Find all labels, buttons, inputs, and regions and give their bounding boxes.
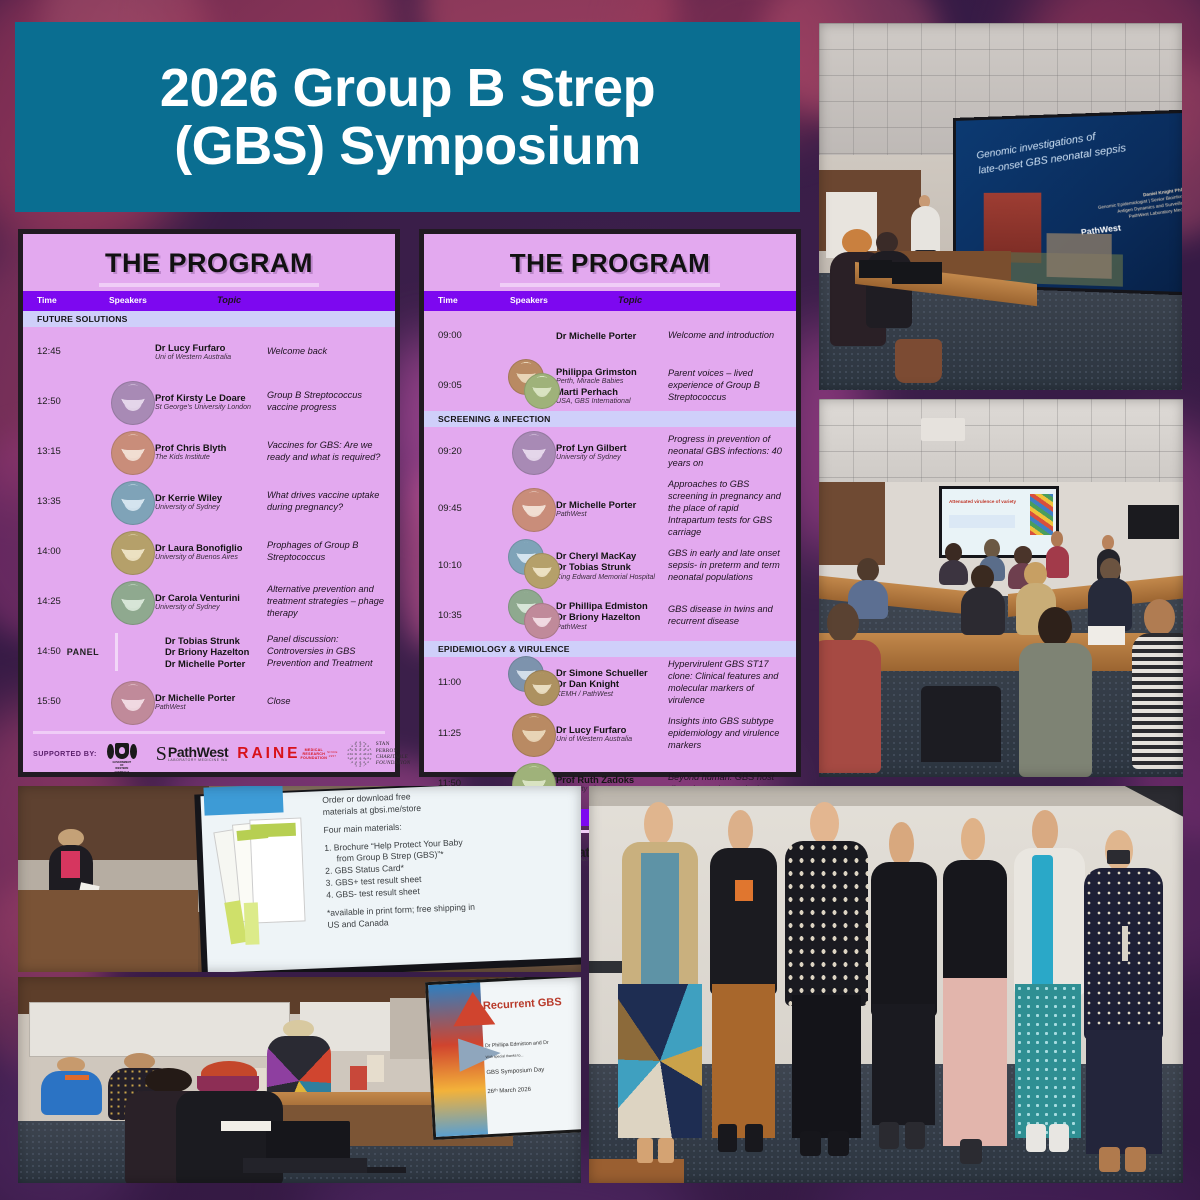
speaker-affiliation: Uni of Western Australia [155, 353, 263, 362]
row-time: 12:45 [23, 346, 109, 357]
program-left-rows: FUTURE SOLUTIONS12:45Dr Lucy FurfaroUni … [23, 311, 395, 727]
row-time-value: 14:25 [37, 596, 61, 607]
avatar-group [510, 711, 556, 757]
speaker-avatar [111, 431, 155, 475]
supporters-divider [33, 731, 385, 734]
avatar-group [510, 486, 556, 532]
row-topic: Prophages of Group B Streptococcus [267, 540, 395, 564]
speaker-avatar [111, 681, 155, 725]
stan-perron-foundation-logo: STAN PERRONCHARITABLEFOUNDATION [347, 741, 412, 767]
program-row: 11:25Dr Lucy FurfaroUni of Western Austr… [424, 709, 796, 759]
row-time-value: 09:20 [438, 446, 462, 457]
speaker-name: Prof Kirsty Le Doare [155, 392, 263, 403]
row-time-value: 12:50 [37, 396, 61, 407]
row-speakers: Dr Simone SchuellerDr Dan KnightKEMH / P… [556, 667, 668, 698]
speaker-name: Dr Cheryl MacKay [556, 550, 664, 561]
supporters-left: SUPPORTED BY: GOVERNMENT OFWESTERN AUSTR… [23, 727, 395, 777]
avatar-group [109, 329, 155, 375]
pathwest-logo: S PathWest LABORATORY MEDICINE WA [156, 744, 228, 764]
speaker-name: Dr Kerrie Wiley [155, 492, 263, 503]
program-left-header: THE PROGRAM [23, 234, 395, 291]
column-header-topic: Topic [217, 295, 395, 307]
speaker-name: Dr Lucy Furfaro [556, 724, 664, 735]
row-time-value: 10:10 [438, 560, 462, 571]
row-speakers: Prof Lyn GilbertUniversity of Sydney [556, 442, 668, 462]
speaker-affiliation: University of Buenos Aires [155, 553, 263, 562]
speaker-name: Prof Chris Blyth [155, 442, 263, 453]
row-time-value: 09:05 [438, 380, 462, 391]
row-time-value: 09:45 [438, 503, 462, 514]
speaker-name: Dr Dan Knight [556, 678, 664, 689]
row-time: 13:15 [23, 446, 109, 457]
row-speakers: Dr Laura BonofiglioUniversity of Buenos … [155, 542, 267, 562]
speaker-affiliation: University of Sydney [556, 453, 664, 462]
photo-slide-materials: Order or download free materials at gbsi… [18, 786, 581, 972]
row-speakers: Dr Michelle Porter [556, 330, 668, 341]
row-time: 11:25 [424, 728, 510, 739]
row-speakers: Dr Carola VenturiniUniversity of Sydney [155, 592, 267, 612]
program-section-header: FUTURE SOLUTIONS [23, 311, 395, 327]
avatar-group [510, 543, 556, 589]
speaker-name: Dr Michelle Porter [155, 692, 263, 703]
row-time-value: 12:45 [37, 346, 61, 357]
row-topic: Alternative prevention and treatment str… [267, 584, 395, 620]
speaker-affiliation: PathWest [556, 510, 664, 519]
speaker-affiliation: University of Sydney [155, 503, 263, 512]
program-row: 09:00Dr Michelle PorterWelcome and intro… [424, 311, 796, 361]
program-row: 13:35Dr Kerrie WileyUniversity of Sydney… [23, 477, 395, 527]
row-time: 09:20 [424, 446, 510, 457]
program-right-column-headers: Time Speakers Topic [424, 291, 796, 311]
row-speakers: Dr Michelle PorterPathWest [556, 499, 668, 519]
column-header-speakers: Speakers [109, 295, 217, 307]
column-header-topic: Topic [618, 295, 796, 307]
speaker-affiliation: KEMH / PathWest [556, 690, 664, 699]
row-topic: GBS disease in twins and recurrent disea… [668, 604, 796, 628]
supporters-label: SUPPORTED BY: [33, 749, 97, 758]
speaker-affiliation: King Edward Memorial Hospital [556, 573, 664, 582]
speaker-avatar [111, 481, 155, 525]
row-topic: Vaccines for GBS: Are we ready and what … [267, 440, 395, 464]
row-speakers: Dr Michelle PorterPathWest [155, 692, 267, 712]
row-topic: Progress in prevention of neonatal GBS i… [668, 434, 796, 470]
speaker-avatar [111, 581, 155, 625]
row-time-value: 11:00 [438, 677, 461, 688]
speaker-name: Dr Laura Bonofiglio [155, 542, 263, 553]
raine-foundation-logo: RAINE MEDICAL RESEARCH FOUNDATION SINCE … [237, 746, 337, 762]
speaker-name: Prof Ruth Zadoks [556, 774, 664, 785]
photo-audience-room: Attenuated virulence of variety [819, 399, 1183, 777]
speaker-name: Dr Tobias Strunk [165, 635, 263, 646]
avatar-group [109, 579, 155, 625]
speaker-name: Dr Michelle Porter [165, 658, 263, 669]
row-time-value: 15:50 [37, 696, 61, 707]
speaker-name: Philippa Grimston [556, 366, 664, 377]
program-row: 14:00Dr Laura BonofiglioUniversity of Bu… [23, 527, 395, 577]
row-topic: Parent voices – lived experience of Grou… [668, 368, 796, 404]
row-time: 09:00 [424, 330, 510, 341]
row-topic: Welcome back [267, 346, 395, 358]
panel-tag: PANEL [67, 647, 99, 657]
speaker-avatar [524, 603, 560, 639]
row-time: 13:35 [23, 496, 109, 507]
avatar-group [109, 429, 155, 475]
avatar-group [109, 529, 155, 575]
speaker-avatar [512, 713, 556, 757]
row-time: 11:00 [424, 677, 510, 688]
speaker-name: Dr Briony Hazelton [556, 611, 664, 622]
page-title: 2026 Group B Strep (GBS) Symposium [160, 59, 655, 176]
program-left-column-headers: Time Speakers Topic [23, 291, 395, 311]
speaker-affiliation: Perth, Miracle Babies [556, 377, 664, 386]
program-row: 10:10Dr Cheryl MacKayDr Tobias StrunkKin… [424, 541, 796, 591]
row-speakers: Philippa GrimstonPerth, Miracle BabiesMa… [556, 366, 668, 406]
speaker-name: Dr Lucy Furfaro [155, 342, 263, 353]
speaker-name: Dr Simone Schueller [556, 667, 664, 678]
row-time-value: 09:00 [438, 330, 462, 341]
avatar-group [510, 313, 556, 359]
row-topic: Approaches to GBS screening in pregnancy… [668, 479, 796, 539]
speaker-name: Dr Briony Hazelton [165, 646, 263, 657]
program-section-header: EPIDEMIOLOGY & VIRULENCE [424, 641, 796, 657]
row-time-value: 13:35 [37, 496, 61, 507]
program-right-rows: 09:00Dr Michelle PorterWelcome and intro… [424, 311, 796, 827]
avatar-group [510, 660, 556, 706]
speaker-name: Dr Carola Venturini [155, 592, 263, 603]
speaker-affiliation: USA, GBS International [556, 397, 664, 406]
program-card-afternoon: THE PROGRAM Time Speakers Topic FUTURE S… [18, 229, 400, 777]
row-topic: GBS in early and late onset sepsis- in p… [668, 548, 796, 584]
row-speakers: Dr Lucy FurfaroUni of Western Australia [556, 724, 668, 744]
row-speakers: Dr Cheryl MacKayDr Tobias StrunkKing Edw… [556, 550, 668, 581]
row-time-value: 11:25 [438, 728, 461, 739]
row-time: 12:50 [23, 396, 109, 407]
program-left-title: THE PROGRAM [29, 248, 389, 279]
avatar-group [109, 379, 155, 425]
row-time: 14:25 [23, 596, 109, 607]
program-row: 09:05Philippa GrimstonPerth, Miracle Bab… [424, 361, 796, 411]
speaker-affiliation: PathWest [155, 703, 263, 712]
speaker-avatar [512, 488, 556, 532]
title-line-2: (GBS) Symposium [160, 117, 655, 175]
avatar-group [510, 429, 556, 475]
speaker-affiliation: St George's University London [155, 403, 263, 412]
row-time: 10:35 [424, 610, 510, 621]
speaker-avatar [524, 373, 560, 409]
speaker-avatar [524, 670, 560, 706]
program-row: 09:45Dr Michelle PorterPathWestApproache… [424, 477, 796, 541]
program-row: 14:50PANELDr Tobias StrunkDr Briony Haze… [23, 627, 395, 677]
speaker-avatar [111, 381, 155, 425]
row-time-value: 14:50 [37, 646, 61, 657]
program-row: 13:15Prof Chris BlythThe Kids InstituteV… [23, 427, 395, 477]
photo-panel-room: Recurrent GBS Dr Phillipa Edmiston and D… [18, 977, 581, 1183]
panel-accent-bar [115, 633, 118, 671]
speaker-avatar [512, 431, 556, 475]
speaker-avatar [524, 553, 560, 589]
program-row: 15:50Dr Michelle PorterPathWestClose [23, 677, 395, 727]
column-header-time: Time [424, 295, 510, 307]
row-topic: Group B Streptococcus vaccine progress [267, 390, 395, 414]
row-time: 14:50PANEL [23, 646, 109, 657]
speaker-name: Dr Phillipa Edmiston [556, 600, 664, 611]
speaker-name: Marti Perhach [556, 386, 664, 397]
row-time: 09:45 [424, 503, 510, 514]
program-row: 10:35Dr Phillipa EdmistonDr Briony Hazel… [424, 591, 796, 641]
row-time-value: 13:15 [37, 446, 61, 457]
row-topic: Hypervirulent GBS ST17 clone: Clinical f… [668, 659, 796, 707]
wa-government-logo: GOVERNMENT OFWESTERN AUSTRALIA [106, 739, 138, 769]
row-topic: What drives vaccine uptake during pregna… [267, 490, 395, 514]
speaker-affiliation: Uni of Western Australia [556, 735, 664, 744]
row-time: 10:10 [424, 560, 510, 571]
row-time: 14:00 [23, 546, 109, 557]
avatar-group [510, 363, 556, 409]
row-time-value: 10:35 [438, 610, 462, 621]
program-row: 12:45Dr Lucy FurfaroUni of Western Austr… [23, 327, 395, 377]
program-right-header: THE PROGRAM [424, 234, 796, 291]
row-time-value: 14:00 [37, 546, 61, 557]
row-topic: Welcome and introduction [668, 330, 796, 342]
program-card-morning: THE PROGRAM Time Speakers Topic 09:00Dr … [419, 229, 801, 777]
photo-group-participants [589, 786, 1183, 1183]
column-header-speakers: Speakers [510, 295, 618, 307]
program-row: 14:25Dr Carola VenturiniUniversity of Sy… [23, 577, 395, 627]
speaker-name: Dr Michelle Porter [556, 499, 664, 510]
speaker-affiliation: The Kids Institute [155, 453, 263, 462]
title-line-1: 2026 Group B Strep [160, 58, 655, 118]
row-speakers: Dr Tobias StrunkDr Briony HazeltonDr Mic… [155, 635, 267, 669]
avatar-group [510, 593, 556, 639]
program-row: 09:20Prof Lyn GilbertUniversity of Sydne… [424, 427, 796, 477]
column-header-time: Time [23, 295, 109, 307]
title-banner: 2026 Group B Strep (GBS) Symposium [15, 22, 800, 212]
row-topic: Insights into GBS subtype epidemiology a… [668, 716, 796, 752]
program-row: 11:00Dr Simone SchuellerDr Dan KnightKEM… [424, 657, 796, 709]
program-section-header: SCREENING & INFECTION [424, 411, 796, 427]
speaker-avatar [111, 531, 155, 575]
title-underline [99, 283, 319, 287]
row-speakers: Prof Chris BlythThe Kids Institute [155, 442, 267, 462]
speaker-affiliation: University of Sydney [155, 603, 263, 612]
row-time: 09:05 [424, 380, 510, 391]
row-speakers: Prof Kirsty Le DoareSt George's Universi… [155, 392, 267, 412]
speaker-affiliation: PathWest [556, 623, 664, 632]
speaker-name: Prof Lyn Gilbert [556, 442, 664, 453]
row-topic: Panel discussion: Controversies in GBS P… [267, 634, 395, 670]
avatar-group [109, 679, 155, 725]
program-row: 12:50Prof Kirsty Le DoareSt George's Uni… [23, 377, 395, 427]
row-speakers: Dr Phillipa EdmistonDr Briony HazeltonPa… [556, 600, 668, 631]
row-topic: Close [267, 696, 395, 708]
program-right-title: THE PROGRAM [430, 248, 790, 279]
photo-speaker-presentation: Genomic investigations of late-onset GBS… [819, 23, 1182, 390]
title-underline [500, 283, 720, 287]
row-speakers: Dr Lucy FurfaroUni of Western Australia [155, 342, 267, 362]
row-time: 15:50 [23, 696, 109, 707]
avatar-group [109, 479, 155, 525]
row-speakers: Dr Kerrie WileyUniversity of Sydney [155, 492, 267, 512]
speaker-name: Dr Tobias Strunk [556, 561, 664, 572]
speaker-name: Dr Michelle Porter [556, 330, 664, 341]
